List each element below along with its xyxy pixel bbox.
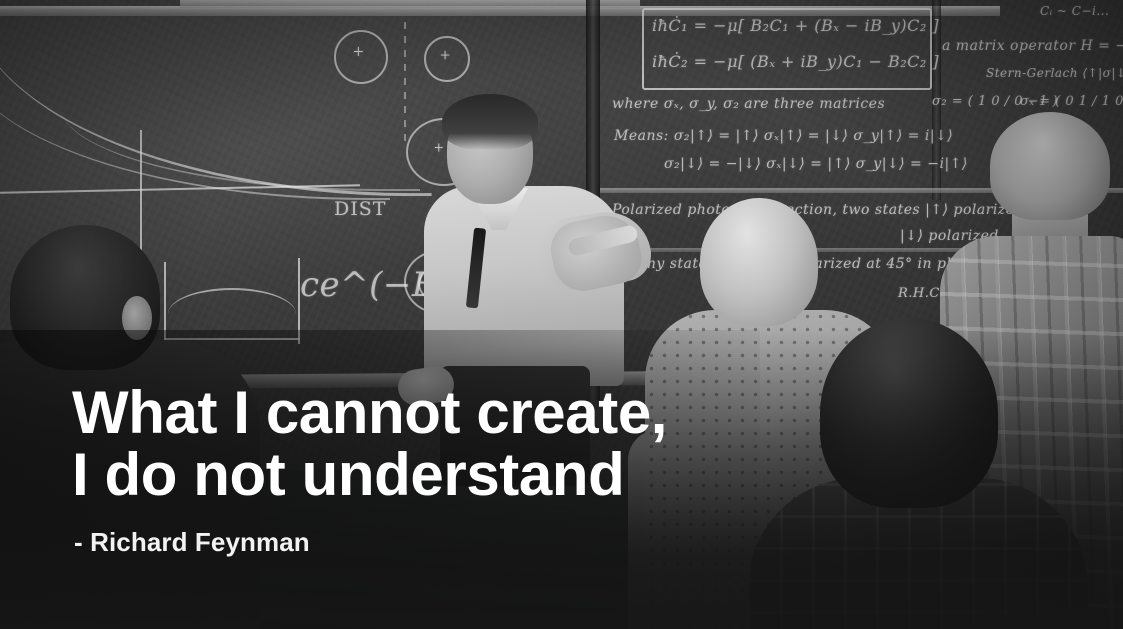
quote-image-canvas: DIST ce^(−Eᵢ/kT) + + + + iħĊ₁ = −μ[ B₂C₁… — [0, 0, 1123, 629]
quote-line-2: I do not understand — [72, 444, 667, 506]
quote-line-1: What I cannot create, — [72, 382, 667, 444]
quote-text-block: What I cannot create, I do not understan… — [72, 382, 667, 506]
quote-attribution: - Richard Feynman — [74, 527, 310, 558]
